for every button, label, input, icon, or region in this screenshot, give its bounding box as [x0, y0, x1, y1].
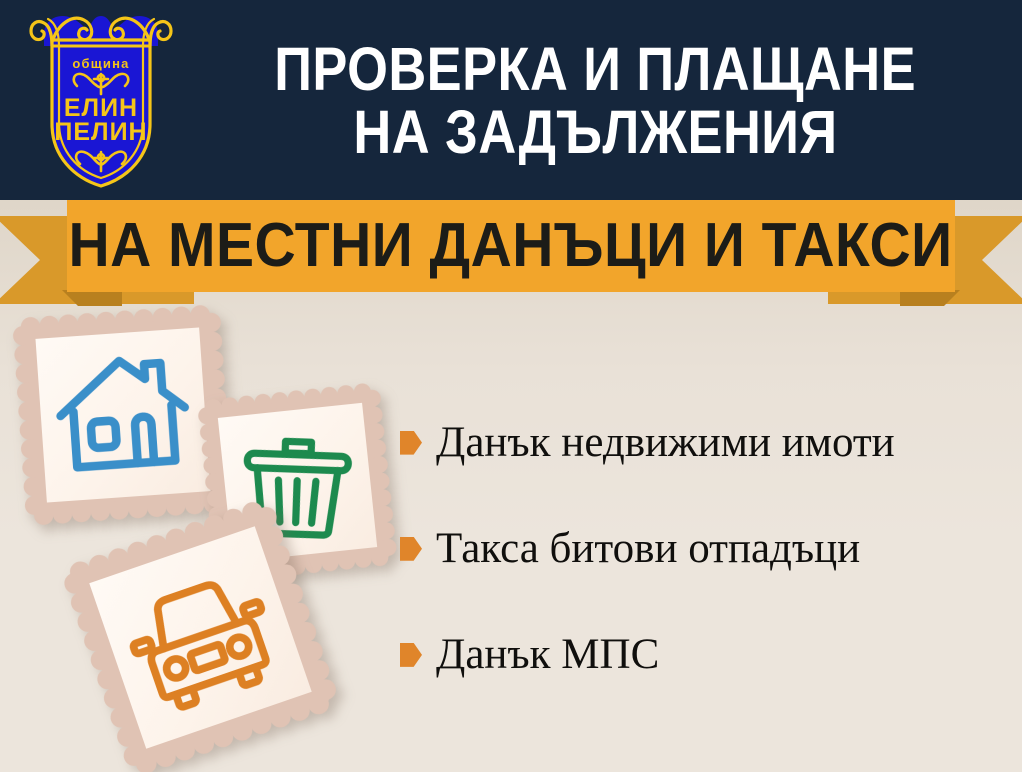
- logo-top-text: община: [72, 56, 129, 71]
- house-icon: [36, 328, 211, 503]
- list-item-label: Данък МПС: [436, 632, 659, 677]
- stamp-group: [0, 300, 420, 772]
- ribbon-band: НА МЕСТНИ ДАНЪЦИ И ТАКСИ: [67, 200, 955, 292]
- bullet-arrow-icon: [400, 643, 422, 667]
- bullet-arrow-icon: [400, 431, 422, 455]
- list-item-label: Данък недвижими имоти: [436, 420, 895, 465]
- municipality-logo: община ЕЛИН ПЕЛИН: [28, 6, 174, 192]
- title-line-1: ПРОВЕРКА И ПЛАЩАНЕ: [274, 38, 916, 100]
- tax-type-list: Данък недвижими имоти Такса битови отпад…: [400, 420, 1010, 677]
- poster-root: община ЕЛИН ПЕЛИН: [0, 0, 1022, 772]
- header-bar: община ЕЛИН ПЕЛИН: [0, 0, 1022, 200]
- ribbon-label: НА МЕСТНИ ДАНЪЦИ И ТАКСИ: [69, 215, 953, 277]
- subtitle-ribbon: НА МЕСТНИ ДАНЪЦИ И ТАКСИ: [0, 198, 1022, 310]
- title-line-2: НА ЗАДЪЛЖЕНИЯ: [353, 101, 837, 163]
- bullet-arrow-icon: [400, 537, 422, 561]
- logo-name-line2: ПЕЛИН: [54, 118, 147, 146]
- list-item-label: Такса битови отпадъци: [436, 526, 860, 571]
- list-item[interactable]: Данък МПС: [400, 632, 1010, 677]
- list-item[interactable]: Данък недвижими имоти: [400, 420, 1010, 465]
- header-title: ПРОВЕРКА И ПЛАЩАНЕ НА ЗАДЪЛЖЕНИЯ: [180, 18, 1010, 183]
- list-item[interactable]: Такса битови отпадъци: [400, 526, 1010, 571]
